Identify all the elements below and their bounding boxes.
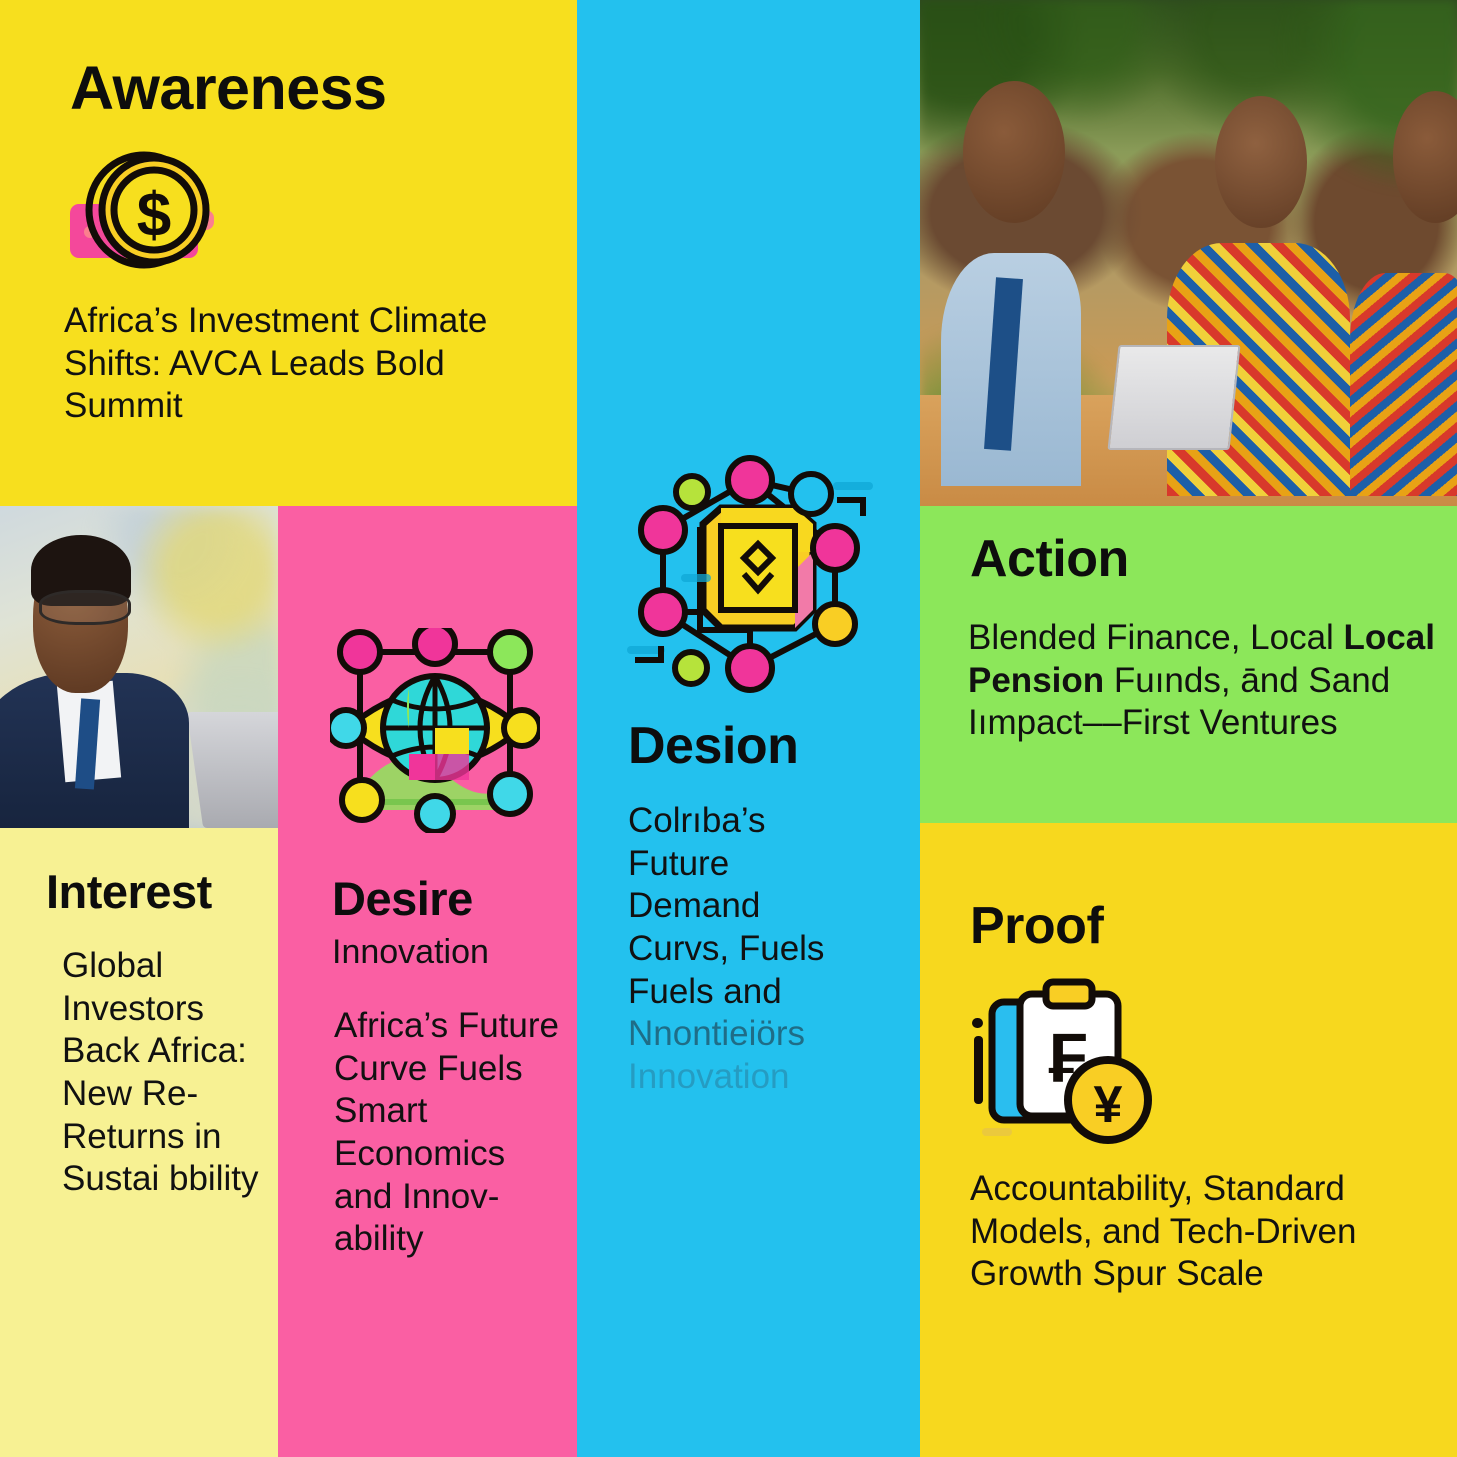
design-body: Colrıba’s Future Demand Curvs, Fuels Fue…: [628, 800, 878, 1099]
interest-body: Global Investors Back Africa: New Re-Ret…: [62, 945, 262, 1201]
svg-text:¥: ¥: [1094, 1076, 1123, 1134]
blockchain-network-icon: [625, 452, 875, 702]
action-title: Action: [970, 533, 1129, 585]
design-body-line: Future: [628, 843, 878, 886]
proof-body: Accountability, Standard Models, and Tec…: [970, 1168, 1420, 1296]
desire-title: Desire: [332, 875, 473, 922]
action-body-pre: Blended Finance, Local: [968, 618, 1344, 657]
design-body-line: Fuels and: [628, 971, 878, 1014]
action-body: Blended Finance, Local Local Pension Fuı…: [968, 617, 1438, 745]
design-title: Desion: [628, 720, 798, 772]
businessman-portrait-photo: [0, 506, 278, 828]
dollar-coin-icon: $: [66, 148, 236, 280]
design-body-line: Colrıba’s: [628, 800, 878, 843]
design-body-line: Curvs, Fuels: [628, 928, 878, 971]
globe-network-icon: [330, 628, 540, 833]
desire-body: Africa’s Future Curve Fuels Smart Econom…: [334, 1005, 569, 1261]
awareness-title: Awareness: [70, 58, 387, 119]
awareness-body: Africa’s Investment Climate Shifts: AVCA…: [64, 300, 494, 428]
proof-title: Proof: [970, 900, 1103, 952]
svg-text:$: $: [137, 181, 171, 250]
team-meeting-photo: [920, 0, 1457, 506]
design-body-faded-line-2: Innovation: [628, 1056, 878, 1099]
design-body-faded-line-1: Nnontieiörs: [628, 1013, 878, 1056]
design-body-line: Demand: [628, 885, 878, 928]
interest-title: Interest: [46, 868, 212, 915]
desire-subtitle: Innovation: [332, 932, 562, 973]
infographic-poster: Awareness $ Africa’s Investment Climate …: [0, 0, 1457, 1457]
clipboard-currency-icon: ₣ ¥: [968, 978, 1158, 1150]
